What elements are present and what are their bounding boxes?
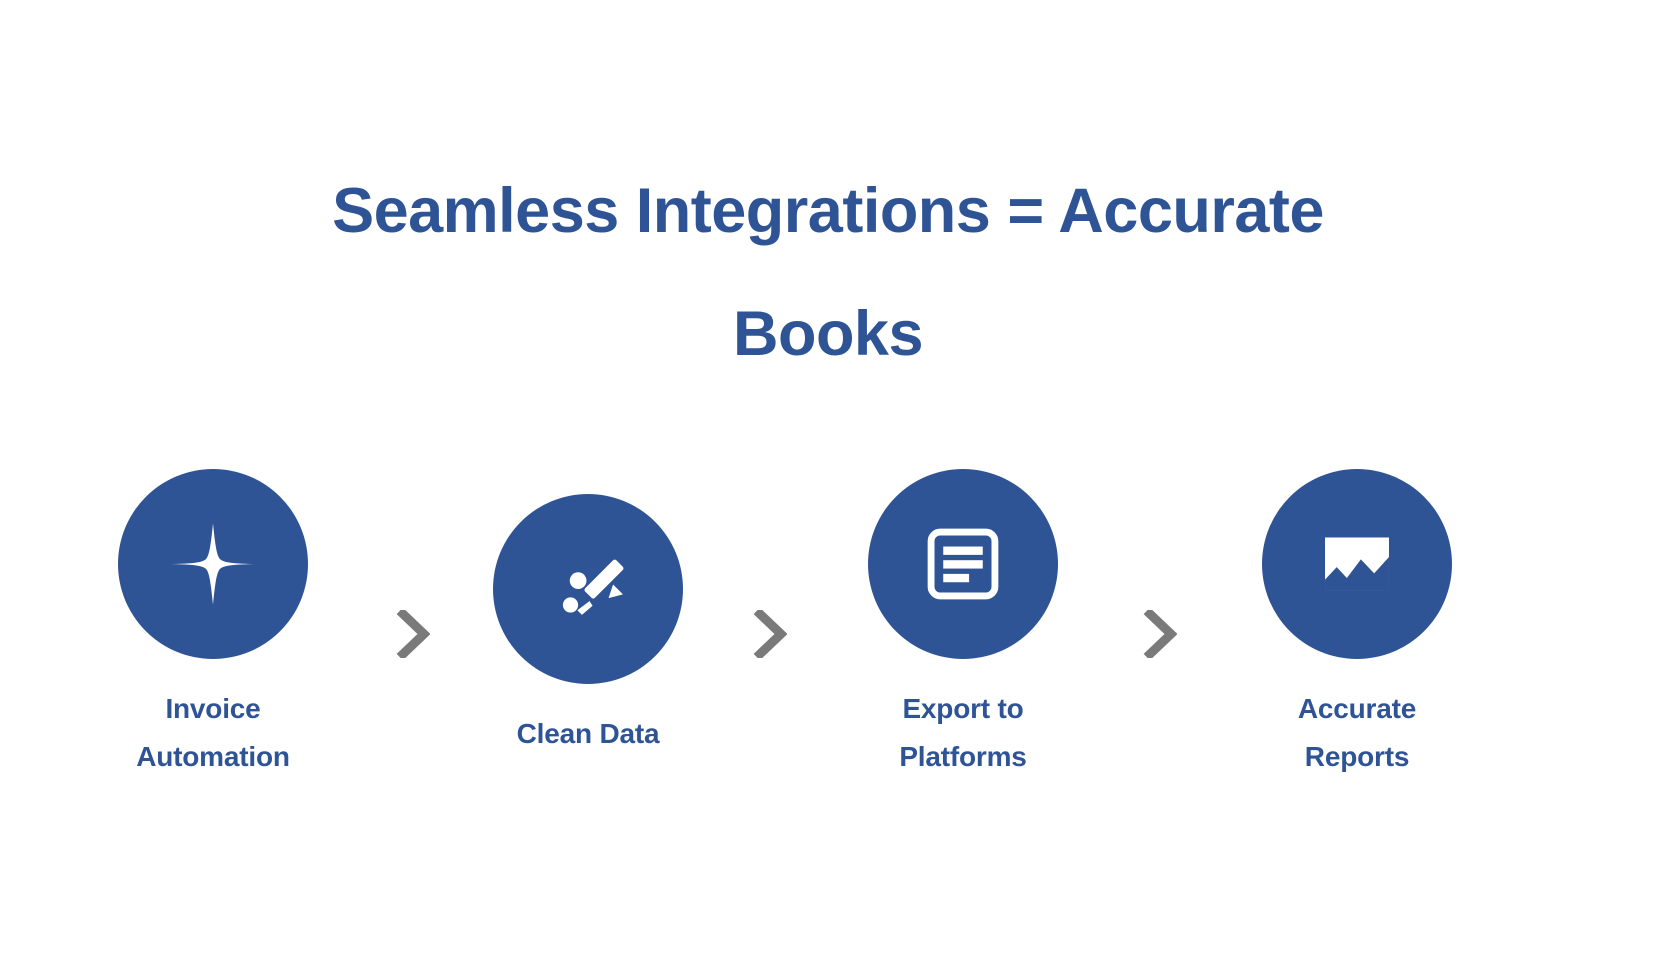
step-4-label-line-1: Accurate bbox=[1207, 685, 1507, 733]
step-3-label: Export to Platforms bbox=[813, 685, 1113, 781]
step-1-label-line-1: Invoice bbox=[63, 685, 363, 733]
step-clean-data[interactable]: Clean Data bbox=[438, 494, 738, 758]
image-chart-icon bbox=[1318, 525, 1396, 603]
infographic-canvas: Seamless Integrations = Accurate Books I… bbox=[0, 0, 1656, 978]
step-2-label-line-1: Clean Data bbox=[438, 710, 738, 758]
step-4-circle bbox=[1262, 469, 1452, 659]
chevron-right-icon bbox=[1143, 610, 1177, 658]
step-4-label: Accurate Reports bbox=[1207, 685, 1507, 781]
step-invoice-automation[interactable]: Invoice Automation bbox=[63, 469, 363, 781]
step-3-label-line-2: Platforms bbox=[813, 733, 1113, 781]
chevron-right-icon bbox=[753, 610, 787, 658]
step-1-label-line-2: Automation bbox=[63, 733, 363, 781]
step-3-circle bbox=[868, 469, 1058, 659]
step-1-circle bbox=[118, 469, 308, 659]
page-title-line-2: Books bbox=[0, 273, 1656, 396]
page-title-line-1: Seamless Integrations = Accurate bbox=[0, 150, 1656, 273]
page-title: Seamless Integrations = Accurate Books bbox=[0, 150, 1656, 396]
magic-wand-clean-icon bbox=[550, 551, 626, 627]
step-2-label: Clean Data bbox=[438, 710, 738, 758]
separator-3 bbox=[1143, 610, 1177, 658]
sparkle-icon bbox=[167, 518, 259, 610]
step-1-label: Invoice Automation bbox=[63, 685, 363, 781]
chevron-right-icon bbox=[396, 610, 430, 658]
step-4-label-line-2: Reports bbox=[1207, 733, 1507, 781]
separator-2 bbox=[753, 610, 787, 658]
step-accurate-reports[interactable]: Accurate Reports bbox=[1207, 469, 1507, 781]
separator-1 bbox=[396, 610, 430, 658]
process-steps: Invoice Automation bbox=[0, 455, 1656, 835]
document-lines-icon bbox=[925, 526, 1001, 602]
step-2-circle bbox=[493, 494, 683, 684]
step-3-label-line-1: Export to bbox=[813, 685, 1113, 733]
step-export-to-platforms[interactable]: Export to Platforms bbox=[813, 469, 1113, 781]
